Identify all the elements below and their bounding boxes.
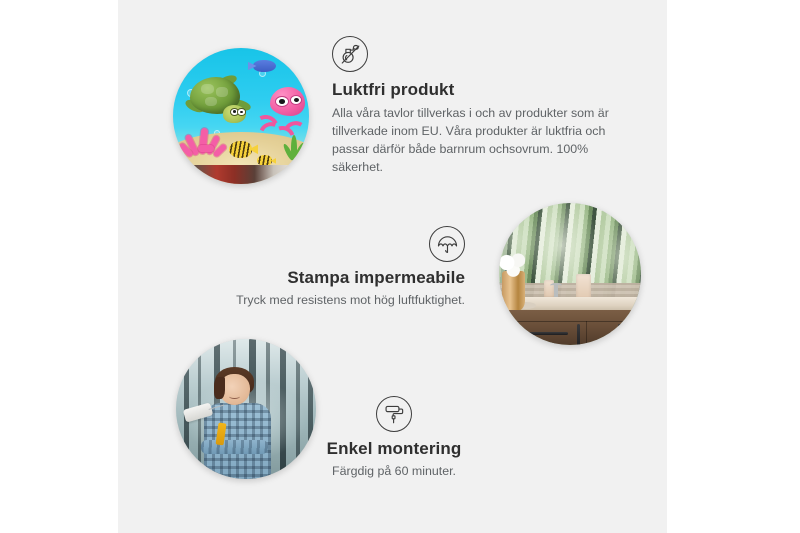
pink-coral	[181, 126, 227, 164]
octopus-head	[270, 87, 305, 116]
yellow-striped-fish	[229, 141, 252, 159]
feature-block-easy-mounting: Enkel montering Färgdig på 60 minuter.	[308, 396, 480, 481]
paint-roller-icon	[376, 396, 412, 432]
turtle-eye	[237, 108, 245, 115]
woman-smile	[229, 394, 240, 399]
photo-bottom-strip	[173, 165, 309, 184]
woman-hair-side	[214, 377, 225, 399]
drawer-handle	[525, 332, 568, 335]
woman-crossed-arms	[201, 440, 268, 454]
turtle-shell-scute	[201, 84, 214, 94]
octopus-eye	[275, 96, 289, 107]
white-flowers	[499, 251, 532, 279]
sea-turtle	[184, 72, 260, 132]
feature-title: Enkel montering	[308, 439, 480, 459]
feature-title: Luktfri produkt	[332, 80, 632, 100]
screenshot-stage: Luktfri produkt Alla våra tavlor tillver…	[0, 0, 800, 533]
photo-underwater-scene	[173, 48, 309, 184]
wooden-vanity-cabinet	[505, 310, 641, 346]
umbrella-icon	[429, 226, 465, 262]
turtle-shell-scute	[205, 97, 217, 107]
feature-description: Färgdig på 60 minuter.	[308, 463, 480, 481]
drawer-divider	[505, 321, 641, 322]
turtle-head	[223, 105, 246, 123]
feature-description: Alla våra tavlor tillverkas i och av pro…	[332, 105, 632, 176]
feature-block-waterproof: Stampa impermeabile Tryck med resistens …	[213, 226, 465, 310]
feature-description: Tryck med resistens mot hög luftfuktighe…	[213, 292, 465, 310]
content-panel: Luktfri produkt Alla våra tavlor tillver…	[118, 0, 667, 533]
no-odor-spray-bottle-icon	[332, 36, 368, 72]
turtle-shell-scute	[216, 87, 228, 97]
feature-block-odorless: Luktfri produkt Alla våra tavlor tillver…	[332, 36, 632, 176]
feature-title: Stampa impermeabile	[213, 268, 465, 288]
cabinet-divider	[586, 321, 587, 345]
cabinet-handle	[618, 324, 621, 345]
photo-woman-painter-forest	[176, 339, 316, 479]
photo-bathroom-wallpaper	[499, 203, 641, 345]
octopus-eye	[290, 95, 303, 105]
cabinet-handle	[577, 324, 580, 345]
green-seaweed	[285, 135, 307, 165]
